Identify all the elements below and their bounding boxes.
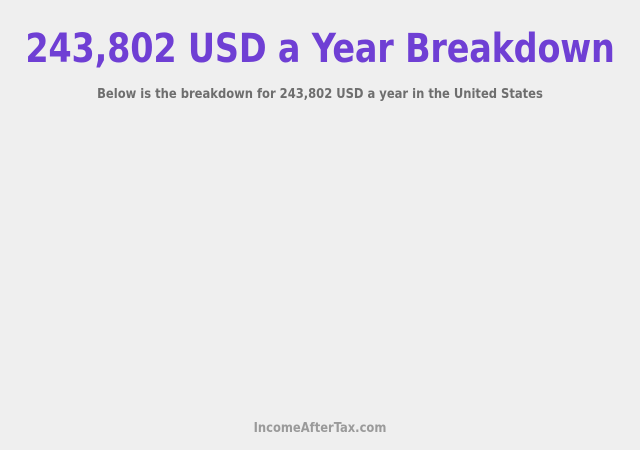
page-title: 243,802 USD a Year Breakdown xyxy=(22,26,617,72)
page-root: 243,802 USD a Year Breakdown Below is th… xyxy=(0,0,640,450)
page-footer: IncomeAfterTax.com xyxy=(0,420,640,437)
chart-plot-region xyxy=(0,118,640,408)
breakdown-chart-area xyxy=(0,118,640,408)
page-subtitle: Below is the breakdown for 243,802 USD a… xyxy=(16,86,624,103)
site-credit: IncomeAfterTax.com xyxy=(16,420,624,437)
